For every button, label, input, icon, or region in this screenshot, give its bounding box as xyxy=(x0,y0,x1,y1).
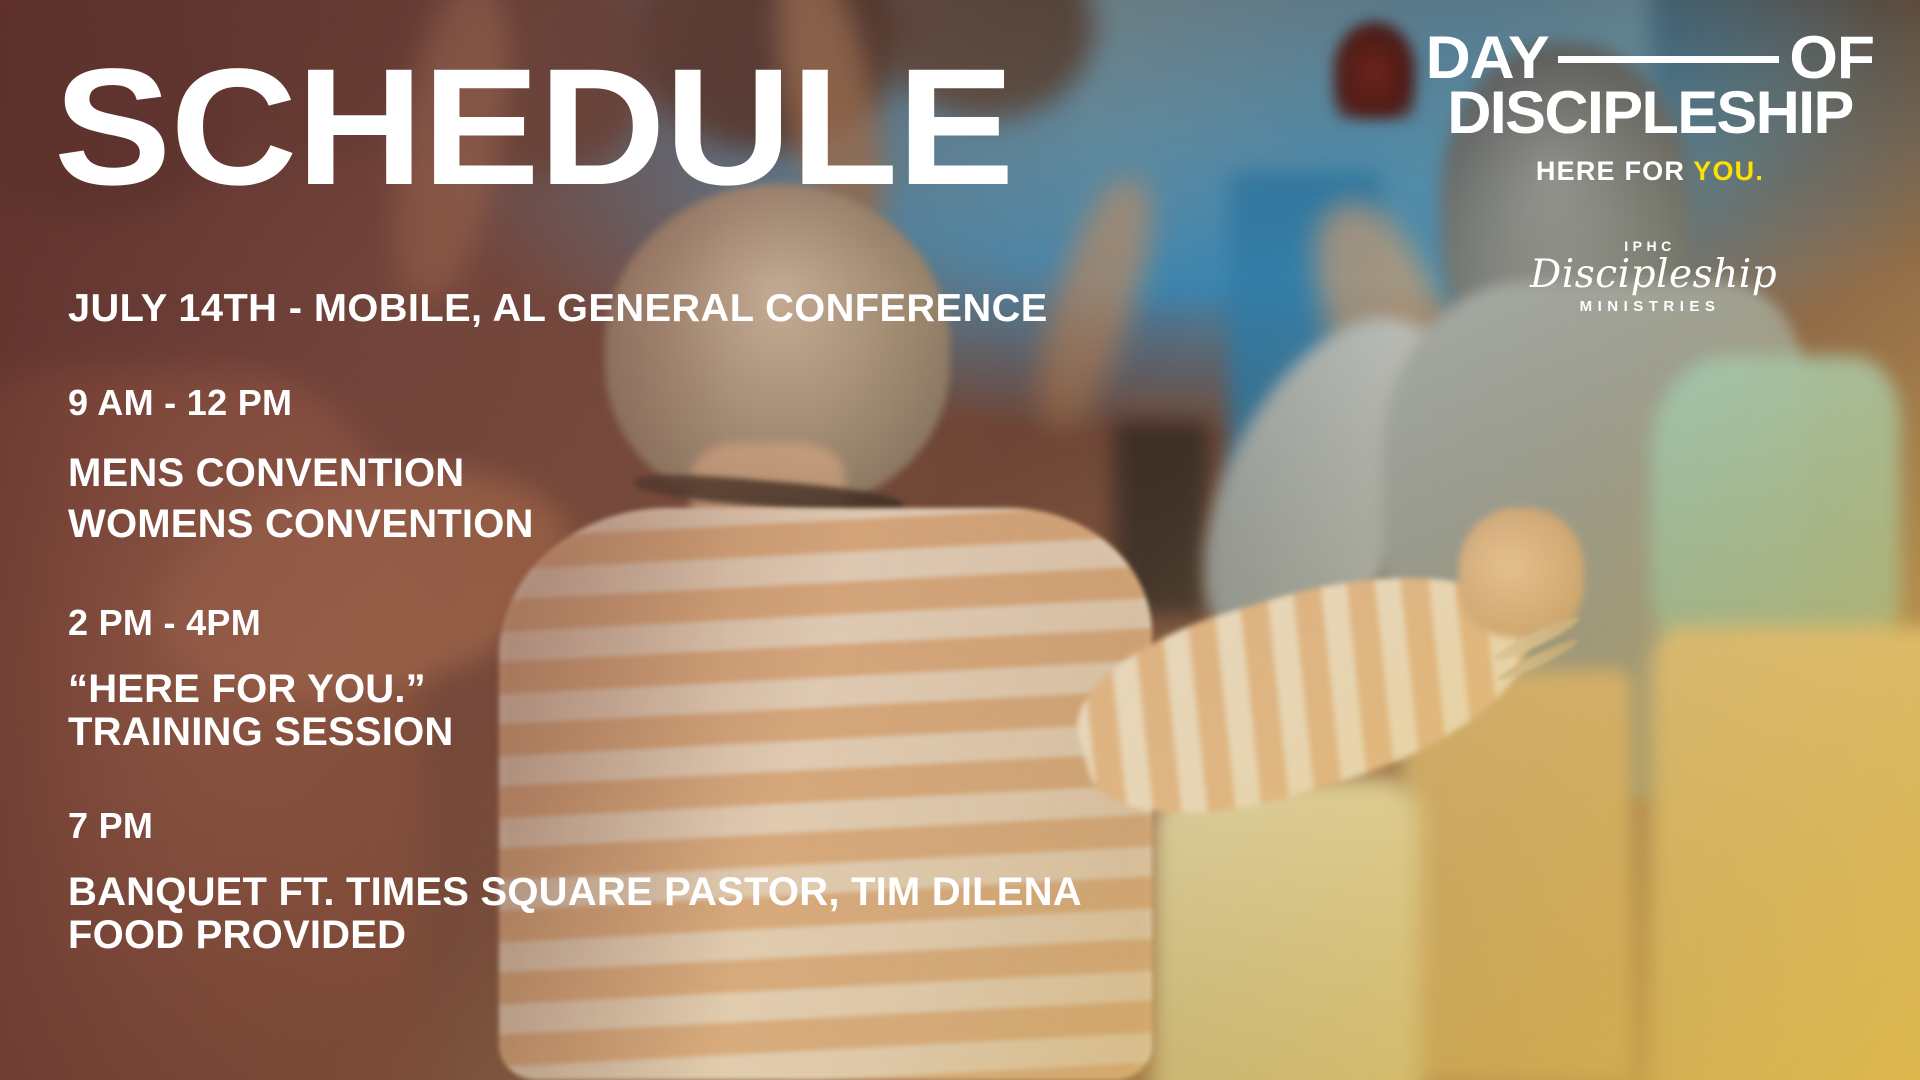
schedule-event: WOMENS CONVENTION xyxy=(68,499,1408,550)
schedule-event: FOOD PROVIDED xyxy=(68,914,1408,956)
page-title: SCHEDULE xyxy=(54,52,1013,205)
schedule-event: BANQUET FT. TIMES SQUARE PASTOR, TIM DIL… xyxy=(68,871,1408,913)
schedule-block-evening: 7 PM BANQUET FT. TIMES SQUARE PASTOR, TI… xyxy=(68,805,1408,956)
poster-content: SCHEDULE JULY 14TH - MOBILE, AL GENERAL … xyxy=(0,0,1920,1080)
event-logo-tagline-prefix: HERE FOR xyxy=(1536,156,1693,186)
schedule-block-afternoon: 2 PM - 4PM “HERE FOR YOU.” TRAINING SESS… xyxy=(68,602,1408,753)
schedule-block-morning: 9 AM - 12 PM MENS CONVENTION WOMENS CONV… xyxy=(68,382,1408,550)
poster-subtitle: JULY 14TH - MOBILE, AL GENERAL CONFERENC… xyxy=(68,287,1048,331)
event-logo-word-day: DAY xyxy=(1426,32,1549,84)
event-logo: DAY OF DISCIPLESHIP HERE FOR YOU. xyxy=(1428,32,1872,187)
schedule-time: 9 AM - 12 PM xyxy=(68,382,1408,424)
event-logo-word-discipleship: DISCIPLESHIP xyxy=(1424,86,1877,140)
schedule-event: “HERE FOR YOU.” xyxy=(68,668,1408,710)
schedule-event: MENS CONVENTION xyxy=(68,448,1408,499)
event-logo-tagline-accent: YOU. xyxy=(1693,156,1764,186)
ministries-logo: IPHC Discipleship MINISTRIES xyxy=(1530,238,1770,315)
ministries-logo-script: Discipleship xyxy=(1530,255,1770,296)
event-logo-tagline: HERE FOR YOU. xyxy=(1428,156,1872,187)
event-logo-top-row: DAY OF xyxy=(1428,32,1872,84)
schedule-list: 9 AM - 12 PM MENS CONVENTION WOMENS CONV… xyxy=(68,382,1408,956)
schedule-event: TRAINING SESSION xyxy=(68,711,1408,753)
horizontal-rule-icon xyxy=(1558,56,1779,63)
schedule-time: 7 PM xyxy=(68,805,1408,847)
schedule-poster: SCHEDULE JULY 14TH - MOBILE, AL GENERAL … xyxy=(0,0,1920,1080)
event-logo-word-of: OF xyxy=(1789,32,1874,84)
ministries-logo-ministries: MINISTRIES xyxy=(1530,298,1770,315)
schedule-time: 2 PM - 4PM xyxy=(68,602,1408,644)
